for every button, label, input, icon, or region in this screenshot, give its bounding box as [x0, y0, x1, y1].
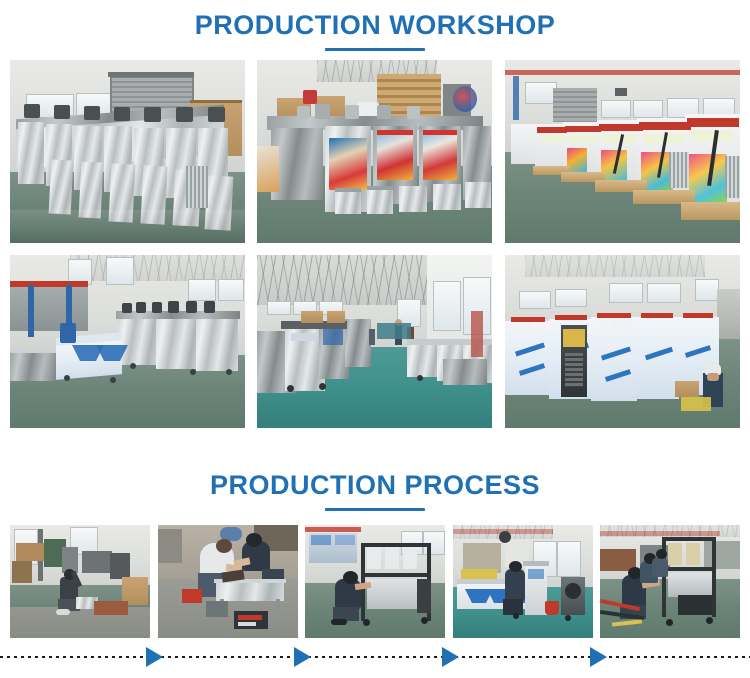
process-photo-1[interactable] [10, 525, 150, 638]
workshop-photo-5-scene [257, 255, 492, 428]
flow-dotted-line [0, 656, 750, 658]
workshop-photo-1[interactable] [10, 60, 245, 243]
workshop-photo-1-scene [10, 60, 245, 243]
page-title-process: PRODUCTION PROCESS [0, 472, 750, 499]
page-root: PRODUCTION WORKSHOP [0, 0, 750, 678]
workshop-photo-2[interactable] [257, 60, 492, 243]
workshop-photo-6-scene [505, 255, 740, 428]
process-photo-1-scene [10, 525, 150, 638]
flow-arrow-2 [294, 647, 311, 667]
process-photo-4[interactable] [453, 525, 593, 638]
title-divider-process [325, 508, 425, 511]
flow-arrow-1 [146, 647, 163, 667]
workshop-photo-6[interactable] [505, 255, 740, 428]
section-workshop-header: PRODUCTION WORKSHOP [0, 12, 750, 51]
process-photo-2[interactable] [158, 525, 298, 638]
process-photo-3-scene [305, 525, 445, 638]
flow-arrow-3 [442, 647, 459, 667]
process-photo-3[interactable] [305, 525, 445, 638]
workshop-photo-5[interactable] [257, 255, 492, 428]
workshop-photo-3-scene [505, 60, 740, 243]
workshop-photo-4-scene [10, 255, 245, 428]
section-process-header: PRODUCTION PROCESS [0, 472, 750, 511]
title-divider-workshop [325, 48, 425, 51]
workshop-photo-2-scene [257, 60, 492, 243]
process-flow-line [0, 646, 750, 668]
flow-arrow-4 [590, 647, 607, 667]
process-photo-2-scene [158, 525, 298, 638]
process-photo-5-scene [600, 525, 740, 638]
process-photo-4-scene [453, 525, 593, 638]
page-title-workshop: PRODUCTION WORKSHOP [0, 12, 750, 39]
workshop-photo-4[interactable] [10, 255, 245, 428]
workshop-photo-3[interactable] [505, 60, 740, 243]
process-photo-5[interactable] [600, 525, 740, 638]
